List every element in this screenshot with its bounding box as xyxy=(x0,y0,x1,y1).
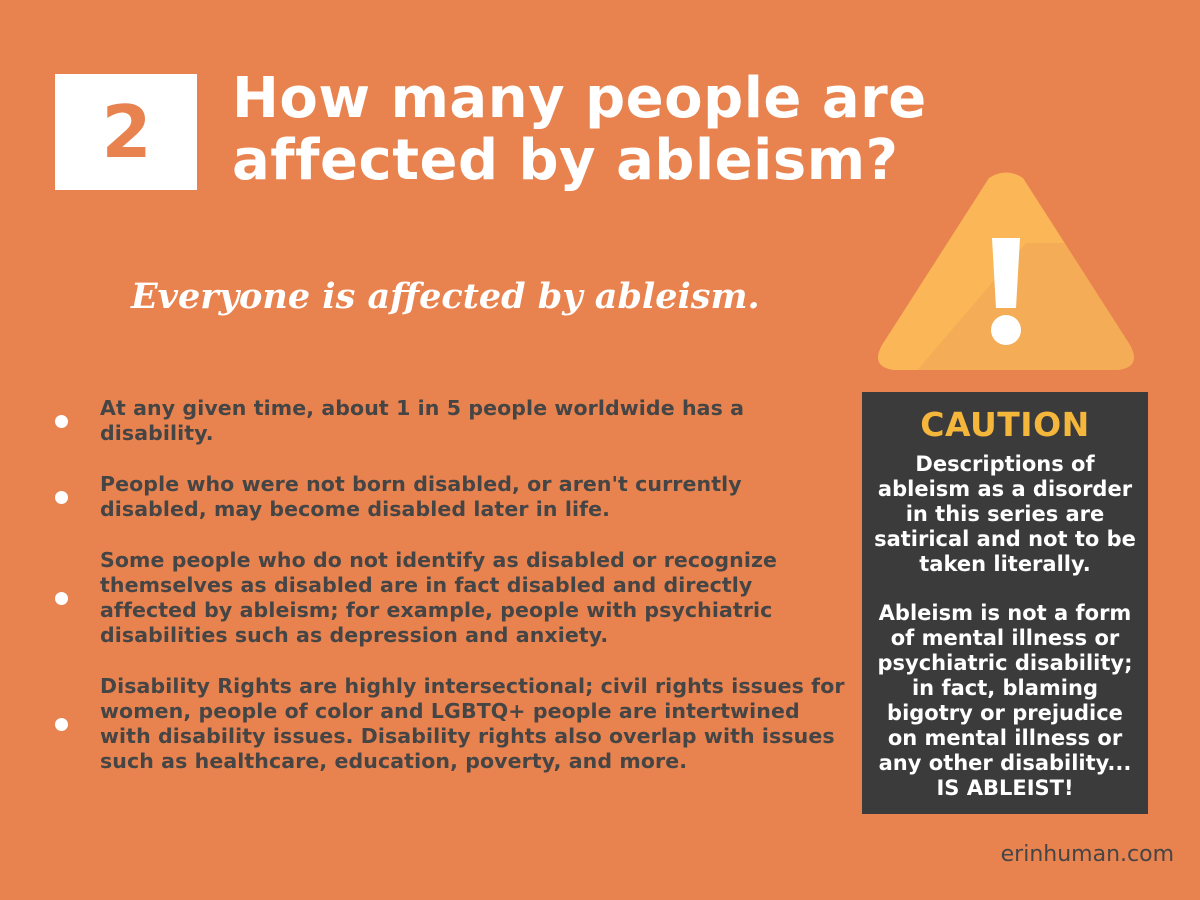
caution-box: CAUTION Descriptions of ableism as a dis… xyxy=(862,392,1148,814)
bullet-dot-icon xyxy=(55,415,68,428)
bullet-list: At any given time, about 1 in 5 people w… xyxy=(55,396,855,800)
slide-canvas: 2 How many people are affected by ableis… xyxy=(0,0,1200,900)
footer-credit: erinhuman.com xyxy=(1001,842,1174,868)
section-number-label: 2 xyxy=(101,96,150,168)
list-item: Some people who do not identify as disab… xyxy=(55,548,855,648)
list-item: Disability Rights are highly intersectio… xyxy=(55,674,855,774)
caution-paragraph-2: Ableism is not a form of mental illness … xyxy=(874,601,1136,801)
bullet-dot-icon xyxy=(55,718,68,731)
section-number-badge: 2 xyxy=(55,74,197,190)
page-title-line-1: How many people are xyxy=(232,68,1052,130)
list-item-text: At any given time, about 1 in 5 people w… xyxy=(100,396,855,446)
list-item-text: People who were not born disabled, or ar… xyxy=(100,472,855,522)
warning-triangle-icon xyxy=(876,165,1136,380)
caution-paragraph-1: Descriptions of ableism as a disorder in… xyxy=(874,452,1136,577)
list-item-text: Some people who do not identify as disab… xyxy=(100,548,855,648)
caution-heading: CAUTION xyxy=(874,406,1136,444)
bullet-dot-icon xyxy=(55,592,68,605)
list-item: People who were not born disabled, or ar… xyxy=(55,472,855,522)
subtitle-text: Everyone is affected by ableism. xyxy=(131,276,760,318)
bullet-dot-icon xyxy=(55,491,68,504)
list-item: At any given time, about 1 in 5 people w… xyxy=(55,396,855,446)
list-item-text: Disability Rights are highly intersectio… xyxy=(100,674,855,774)
